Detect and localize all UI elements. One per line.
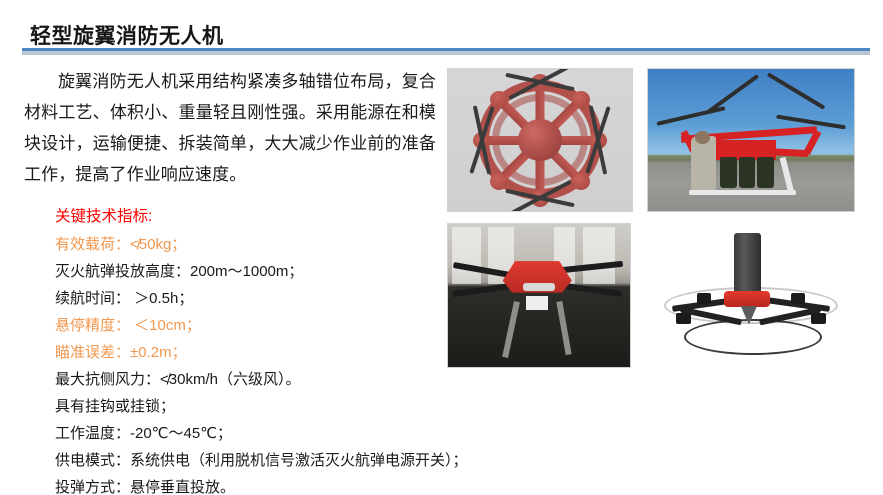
drone-arm bbox=[452, 283, 514, 297]
extinguisher-canister bbox=[739, 157, 755, 188]
page-title: 轻型旋翼消防无人机 bbox=[30, 20, 224, 50]
render-motor-node bbox=[490, 173, 508, 190]
landing-leg bbox=[780, 157, 795, 194]
drone-motor bbox=[676, 313, 691, 325]
drone-technician-scene bbox=[648, 69, 854, 211]
window-panel bbox=[583, 227, 616, 284]
spec-item-aiming-error: 瞄准误差：±0.2m； bbox=[55, 339, 436, 366]
text-column: 旋翼消防无人机采用结构紧凑多轴错位布局，复合材料工艺、体积小、重量轻且刚性强。采… bbox=[24, 66, 436, 495]
photo-drone-payload bbox=[647, 223, 855, 368]
spec-item-drop-height: 灭火航弹投放高度：200m～1000m； bbox=[55, 258, 436, 285]
extinguisher-canister bbox=[720, 157, 736, 188]
render-center-hub bbox=[518, 119, 562, 161]
landing-gear bbox=[684, 319, 821, 355]
drone-payload-box bbox=[526, 296, 548, 310]
spec-item-hook-lock: 具有挂钩或挂锁； bbox=[55, 393, 436, 420]
drone-payload-scene bbox=[647, 223, 855, 368]
photo-octocopter-render bbox=[447, 68, 633, 212]
drone-motor bbox=[697, 293, 712, 305]
photo-drone-technician bbox=[647, 68, 855, 212]
intro-paragraph: 旋翼消防无人机采用结构紧凑多轴错位布局，复合材料工艺、体积小、重量轻且刚性强。采… bbox=[24, 66, 436, 190]
spec-item-endurance: 续航时间： ＞0.5h； bbox=[55, 285, 436, 312]
render-motor-node bbox=[572, 91, 590, 108]
spec-item-wind-resistance: 最大抗侧风力：≮30km/h（六级风）。 bbox=[55, 366, 436, 393]
spec-item-drop-method: 投弹方式：悬停垂直投放。 bbox=[55, 474, 436, 495]
technician-head bbox=[695, 131, 709, 144]
landing-leg bbox=[556, 301, 572, 356]
spec-item-hover-accuracy: 悬停精度： ＜10cm； bbox=[55, 312, 436, 339]
spec-heading: 关键技术指标: bbox=[55, 203, 436, 231]
drone-rotor-blade bbox=[657, 107, 726, 127]
drone-motor bbox=[811, 313, 826, 325]
spec-item-power-mode: 供电模式：系统供电（利用脱机信号激活灭火航弹电源开关）； bbox=[55, 447, 436, 474]
title-divider bbox=[22, 48, 870, 55]
drone-arm bbox=[564, 283, 622, 297]
window-panel bbox=[452, 227, 481, 284]
title-divider-shadow bbox=[22, 51, 870, 55]
extinguisher-canister bbox=[757, 157, 773, 188]
slide-canvas: 轻型旋翼消防无人机 旋翼消防无人机采用结构紧凑多轴错位布局，复合材料工艺、体积小… bbox=[0, 0, 883, 495]
octocopter-render-scene bbox=[448, 69, 632, 211]
drone-handle-slot bbox=[523, 283, 556, 292]
spec-list: 关键技术指标: 有效载荷：≮50kg； 灭火航弹投放高度：200m～1000m；… bbox=[24, 203, 436, 495]
render-motor-node bbox=[490, 91, 508, 108]
drone-fuselage bbox=[724, 291, 770, 307]
drone-rotor-blade bbox=[706, 74, 758, 114]
render-motor-node bbox=[572, 173, 590, 190]
drone-motor bbox=[791, 293, 806, 305]
drone-rotor-blade bbox=[767, 72, 826, 110]
photo-drone-indoor bbox=[447, 223, 631, 368]
spec-item-temperature: 工作温度：-20℃～45℃； bbox=[55, 420, 436, 447]
cylindrical-payload bbox=[734, 233, 761, 294]
image-grid bbox=[440, 60, 883, 390]
drone-indoor-scene bbox=[448, 224, 630, 367]
spec-item-payload: 有效载荷：≮50kg； bbox=[55, 231, 436, 258]
landing-skid bbox=[689, 190, 796, 196]
landing-leg bbox=[502, 301, 520, 358]
